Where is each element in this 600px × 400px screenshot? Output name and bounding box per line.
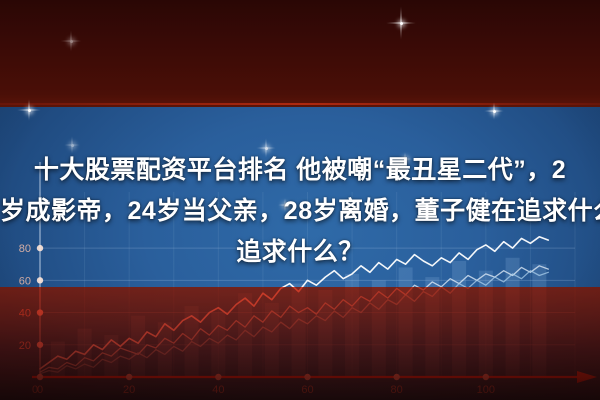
headline-line-2: 岁成影帝，24岁当父亲，28岁离婚，董子健在追求什么 (0, 191, 600, 232)
top-red-band (0, 0, 600, 107)
image-canvas: 020406080100204060800 十大股票配资平台排名 他被嘲“最丑星… (0, 0, 600, 400)
headline: 十大股票配资平台排名 他被嘲“最丑星二代”，2 岁成影帝，24岁当父亲，28岁离… (0, 150, 600, 273)
bottom-red-tint (0, 287, 600, 400)
headline-line-1: 十大股票配资平台排名 他被嘲“最丑星二代”，2 (0, 150, 600, 191)
top-band-divider (0, 103, 600, 105)
headline-line-3: 追求什么？ (0, 232, 600, 273)
